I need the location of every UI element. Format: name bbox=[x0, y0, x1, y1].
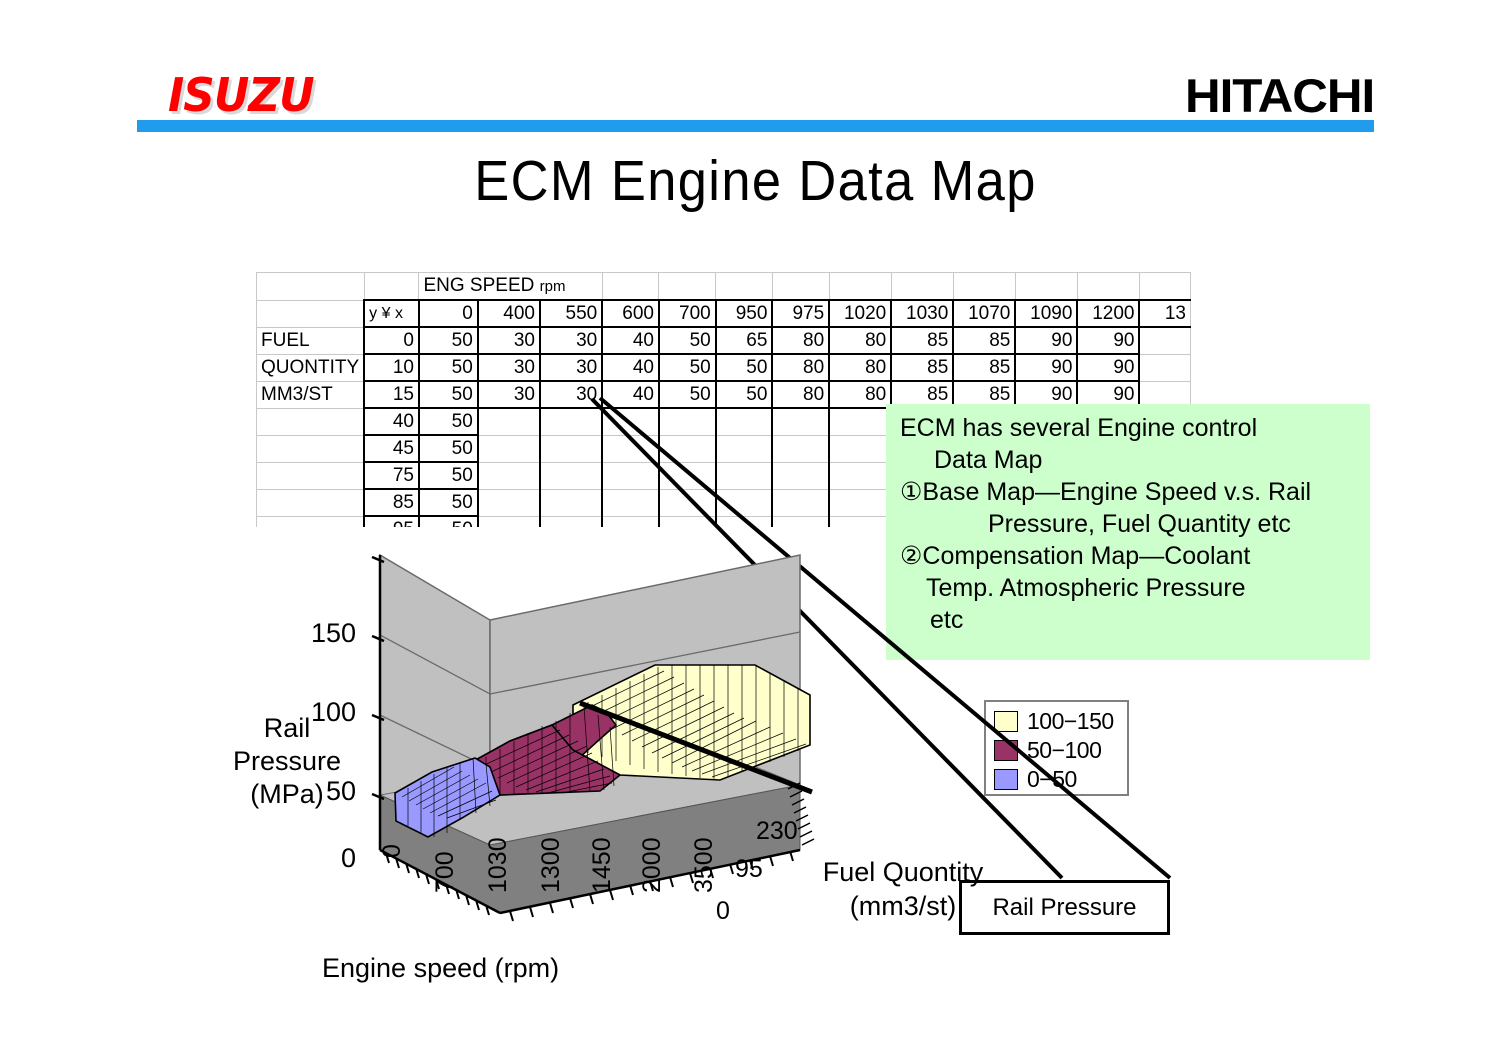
table-cell bbox=[716, 489, 773, 516]
table-cell: 85 bbox=[891, 354, 953, 381]
table-cell: 80 bbox=[772, 381, 829, 408]
table-cell bbox=[772, 435, 829, 462]
table-header-row: ENG SPEED rpm bbox=[257, 273, 1191, 301]
x-axis-title: Engine speed (rpm) bbox=[322, 953, 559, 984]
table-cell: 40 bbox=[602, 354, 659, 381]
info-line-2: Data Map bbox=[900, 444, 1360, 476]
table-column-header-row: y ¥ x04005506007009509751020103010701090… bbox=[257, 300, 1191, 327]
table-column-header: 600 bbox=[602, 300, 659, 327]
table-row-label: FUEL bbox=[257, 327, 365, 354]
table-cell bbox=[716, 462, 773, 489]
table-cell bbox=[602, 516, 659, 527]
x-tick-700: 700 bbox=[431, 851, 460, 893]
table-cell: 30 bbox=[478, 381, 540, 408]
table-cell bbox=[1139, 354, 1190, 381]
table-cell bbox=[1015, 273, 1077, 301]
table-column-header: 1200 bbox=[1077, 300, 1139, 327]
table-row-key: 40 bbox=[364, 408, 419, 435]
table-cell: 50 bbox=[716, 354, 773, 381]
table-cell: 40 bbox=[602, 327, 659, 354]
table-row-label bbox=[257, 462, 365, 489]
table-cell: 50 bbox=[419, 462, 478, 489]
table-cell bbox=[257, 300, 365, 327]
x-tick-1450: 1450 bbox=[588, 837, 617, 893]
table-cell bbox=[540, 462, 602, 489]
table-cell bbox=[829, 489, 891, 516]
table-cell: 50 bbox=[716, 381, 773, 408]
table-column-header: 13 bbox=[1139, 300, 1190, 327]
table-column-header: 950 bbox=[716, 300, 773, 327]
table-cell bbox=[364, 273, 419, 301]
table-cell: 50 bbox=[659, 354, 716, 381]
table-column-header: 400 bbox=[478, 300, 540, 327]
table-cell bbox=[772, 516, 829, 527]
page-title: ECM Engine Data Map bbox=[60, 148, 1450, 214]
x-tick-1030: 1030 bbox=[484, 837, 513, 893]
table-row: FUEL0503030405065808085859090 bbox=[257, 327, 1191, 354]
table-row-key: 45 bbox=[364, 435, 419, 462]
table-cell bbox=[1139, 327, 1190, 354]
table-row-label bbox=[257, 489, 365, 516]
table-row-key: 15 bbox=[364, 381, 419, 408]
table-cell bbox=[716, 435, 773, 462]
table-column-header: 1020 bbox=[829, 300, 891, 327]
table-cell bbox=[478, 435, 540, 462]
table-row-label: QUONTITY bbox=[257, 354, 365, 381]
table-cell bbox=[772, 273, 829, 301]
table-cell: 80 bbox=[772, 354, 829, 381]
table-row-label: MM3/ST bbox=[257, 381, 365, 408]
table-cell: 80 bbox=[829, 327, 891, 354]
z-axis-title-line-3: (MPa) bbox=[222, 778, 352, 811]
eng-speed-header: ENG SPEED rpm bbox=[419, 273, 602, 301]
table-cell bbox=[540, 489, 602, 516]
table-cell bbox=[478, 408, 540, 435]
table-row-key: 75 bbox=[364, 462, 419, 489]
table-column-header: 0 bbox=[419, 300, 478, 327]
table-cell bbox=[772, 489, 829, 516]
y-tick-230: 230 bbox=[756, 817, 798, 846]
table-cell: 50 bbox=[419, 435, 478, 462]
table-column-header: 1070 bbox=[953, 300, 1015, 327]
y-axis-title: Fuel Quontity (mm3/st) bbox=[798, 855, 1008, 923]
table-cell: 85 bbox=[953, 354, 1015, 381]
table-cell: 50 bbox=[659, 381, 716, 408]
z-tick-150: 150 bbox=[300, 618, 356, 649]
info-line-4: Pressure, Fuel Quantity etc bbox=[900, 508, 1360, 540]
table-cell bbox=[478, 489, 540, 516]
table-cell: 40 bbox=[602, 381, 659, 408]
y-tick-95: 95 bbox=[735, 855, 763, 884]
table-row-key: 0 bbox=[364, 327, 419, 354]
table-cell bbox=[478, 462, 540, 489]
table-cell: 90 bbox=[1015, 327, 1077, 354]
x-tick-0: 0 bbox=[378, 844, 407, 858]
table-cell bbox=[478, 516, 540, 527]
table-cell: 30 bbox=[478, 327, 540, 354]
table-row-key: 10 bbox=[364, 354, 419, 381]
table-column-header: 550 bbox=[540, 300, 602, 327]
y-tick-0: 0 bbox=[716, 897, 730, 926]
table-cell bbox=[602, 462, 659, 489]
y-axis-title-line-1: Fuel Quontity bbox=[798, 855, 1008, 889]
table-cell bbox=[540, 435, 602, 462]
table-cell: 80 bbox=[829, 354, 891, 381]
table-cell: 90 bbox=[1077, 354, 1139, 381]
table-cell bbox=[659, 408, 716, 435]
x-tick-2000: 2000 bbox=[638, 837, 667, 893]
brand-accent-bar bbox=[137, 120, 1374, 132]
legend-label-0-50: 0−50 bbox=[1027, 766, 1077, 793]
table-cell: 90 bbox=[1015, 354, 1077, 381]
y-axis-title-line-2: (mm3/st) bbox=[798, 889, 1008, 923]
table-cell bbox=[829, 435, 891, 462]
table-cell bbox=[602, 435, 659, 462]
table-cell bbox=[659, 516, 716, 527]
table-cell bbox=[829, 516, 891, 527]
legend-label-100-150: 100−150 bbox=[1027, 708, 1114, 735]
table-column-header: 975 bbox=[772, 300, 829, 327]
table-column-header: 700 bbox=[659, 300, 716, 327]
table-cell bbox=[716, 273, 773, 301]
table-cell bbox=[659, 489, 716, 516]
table-cell bbox=[602, 408, 659, 435]
table-cell: 80 bbox=[772, 327, 829, 354]
table-cell bbox=[829, 273, 891, 301]
table-cell bbox=[829, 408, 891, 435]
x-tick-3500: 3500 bbox=[690, 837, 719, 893]
table-cell bbox=[540, 408, 602, 435]
table-cell: 30 bbox=[540, 327, 602, 354]
table-cell bbox=[716, 516, 773, 527]
table-cell: 80 bbox=[829, 381, 891, 408]
table-cell: 30 bbox=[540, 381, 602, 408]
table-cell bbox=[953, 273, 1015, 301]
table-cell: 50 bbox=[419, 516, 478, 527]
table-cell bbox=[716, 408, 773, 435]
table-row-key: 85 bbox=[364, 489, 419, 516]
table-cell bbox=[602, 489, 659, 516]
table-cell bbox=[829, 462, 891, 489]
table-cell: 50 bbox=[419, 489, 478, 516]
hitachi-logo: HITACHI bbox=[1185, 68, 1374, 123]
table-cell: 30 bbox=[540, 354, 602, 381]
table-cell: 85 bbox=[953, 327, 1015, 354]
table-cell bbox=[257, 273, 365, 301]
table-cell: 90 bbox=[1077, 327, 1139, 354]
table-row-label bbox=[257, 408, 365, 435]
table-cell: 85 bbox=[891, 327, 953, 354]
legend-label-50-100: 50−100 bbox=[1027, 737, 1101, 764]
table-cell: 30 bbox=[478, 354, 540, 381]
table-cell bbox=[659, 273, 716, 301]
table-cell bbox=[772, 408, 829, 435]
table-cell bbox=[602, 273, 659, 301]
isuzu-logo: ISUZU bbox=[168, 68, 314, 122]
x-tick-1300: 1300 bbox=[537, 837, 566, 893]
table-row-label bbox=[257, 435, 365, 462]
table-cell: 50 bbox=[419, 354, 478, 381]
table-cell bbox=[1139, 273, 1190, 301]
table-column-header: 1030 bbox=[891, 300, 953, 327]
info-line-1: ECM has several Engine control bbox=[900, 412, 1360, 444]
table-row-label bbox=[257, 516, 365, 527]
table-row: QUONTITY10503030405050808085859090 bbox=[257, 354, 1191, 381]
info-line-3: ①Base Map—Engine Speed v.s. Rail bbox=[900, 476, 1360, 508]
table-cell bbox=[891, 273, 953, 301]
table-cell: 50 bbox=[419, 327, 478, 354]
table-cell: 50 bbox=[659, 327, 716, 354]
table-cell bbox=[1077, 273, 1139, 301]
table-cell bbox=[659, 435, 716, 462]
z-axis-title-line-2: Pressure bbox=[222, 745, 352, 778]
table-row-key: 95 bbox=[364, 516, 419, 527]
table-cell bbox=[540, 516, 602, 527]
table-cell bbox=[659, 462, 716, 489]
table-cell bbox=[772, 462, 829, 489]
table-cell: 50 bbox=[419, 408, 478, 435]
table-column-header: 1090 bbox=[1015, 300, 1077, 327]
table-cell: 50 bbox=[419, 381, 478, 408]
z-axis-title-line-1: Rail bbox=[222, 712, 352, 745]
z-axis-title: Rail Pressure (MPa) bbox=[222, 712, 352, 811]
table-corner-label: y ¥ x bbox=[364, 300, 419, 327]
table-cell: 65 bbox=[716, 327, 773, 354]
z-tick-0: 0 bbox=[330, 843, 356, 874]
